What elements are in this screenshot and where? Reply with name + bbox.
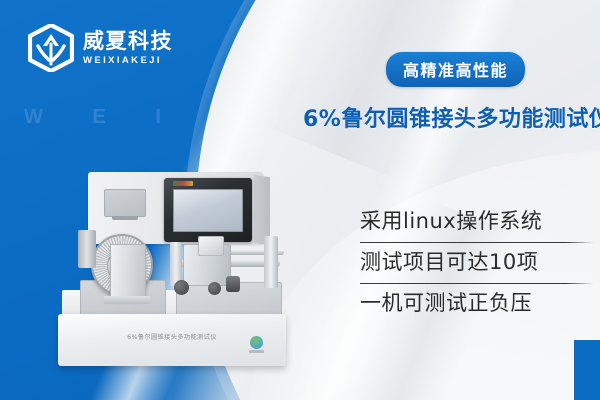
feature-list: 采用linux操作系统 测试项目可达10项 一机可测试正负压 [360, 202, 594, 324]
touchscreen-panel [164, 178, 252, 242]
feature-item: 测试项目可达10项 [360, 243, 594, 283]
adjust-knob [226, 276, 240, 292]
emblem-caption-bar [249, 350, 264, 353]
product-title: 6%鲁尔圆锥接头多功能测试仪 [303, 101, 600, 133]
status-led-strip [173, 181, 193, 186]
headline-badge: 高精准高性能 [386, 52, 525, 87]
feature-item: 采用linux操作系统 [360, 202, 594, 242]
hexagon-arrow-logo-icon [28, 24, 74, 72]
brand-logo: 威夏科技 WEIXIAKEJI [28, 24, 173, 72]
adjust-knob [174, 280, 189, 295]
background-blue-sliver [574, 340, 600, 400]
promo-banner: W E I X I A K E J I 威夏科技 WEIXIAKEJI 高精准高… [0, 0, 600, 400]
machine-back-panel-side [254, 175, 270, 245]
touchscreen-display [173, 189, 243, 232]
adjust-knob [208, 282, 221, 295]
product-image: 6%鲁尔圆锥接头多功能测试仪 [58, 172, 293, 367]
luer-fitting [198, 236, 224, 256]
support-block-foot [104, 296, 150, 304]
clamp-right [264, 236, 278, 288]
brand-name-cn: 威夏科技 [83, 31, 173, 52]
machine-front-label: 6%鲁尔圆锥接头多功能测试仪 [84, 332, 260, 341]
wheel-arm [78, 230, 96, 268]
manufacturer-emblem [248, 336, 264, 354]
machine-recess-plate [104, 189, 146, 217]
brand-logo-text: 威夏科技 WEIXIAKEJI [83, 31, 173, 66]
feature-item: 一机可测试正负压 [360, 284, 594, 324]
wheel-support-block [110, 244, 146, 300]
emblem-circle-icon [250, 336, 263, 349]
brand-name-en: WEIXIAKEJI [83, 56, 173, 66]
